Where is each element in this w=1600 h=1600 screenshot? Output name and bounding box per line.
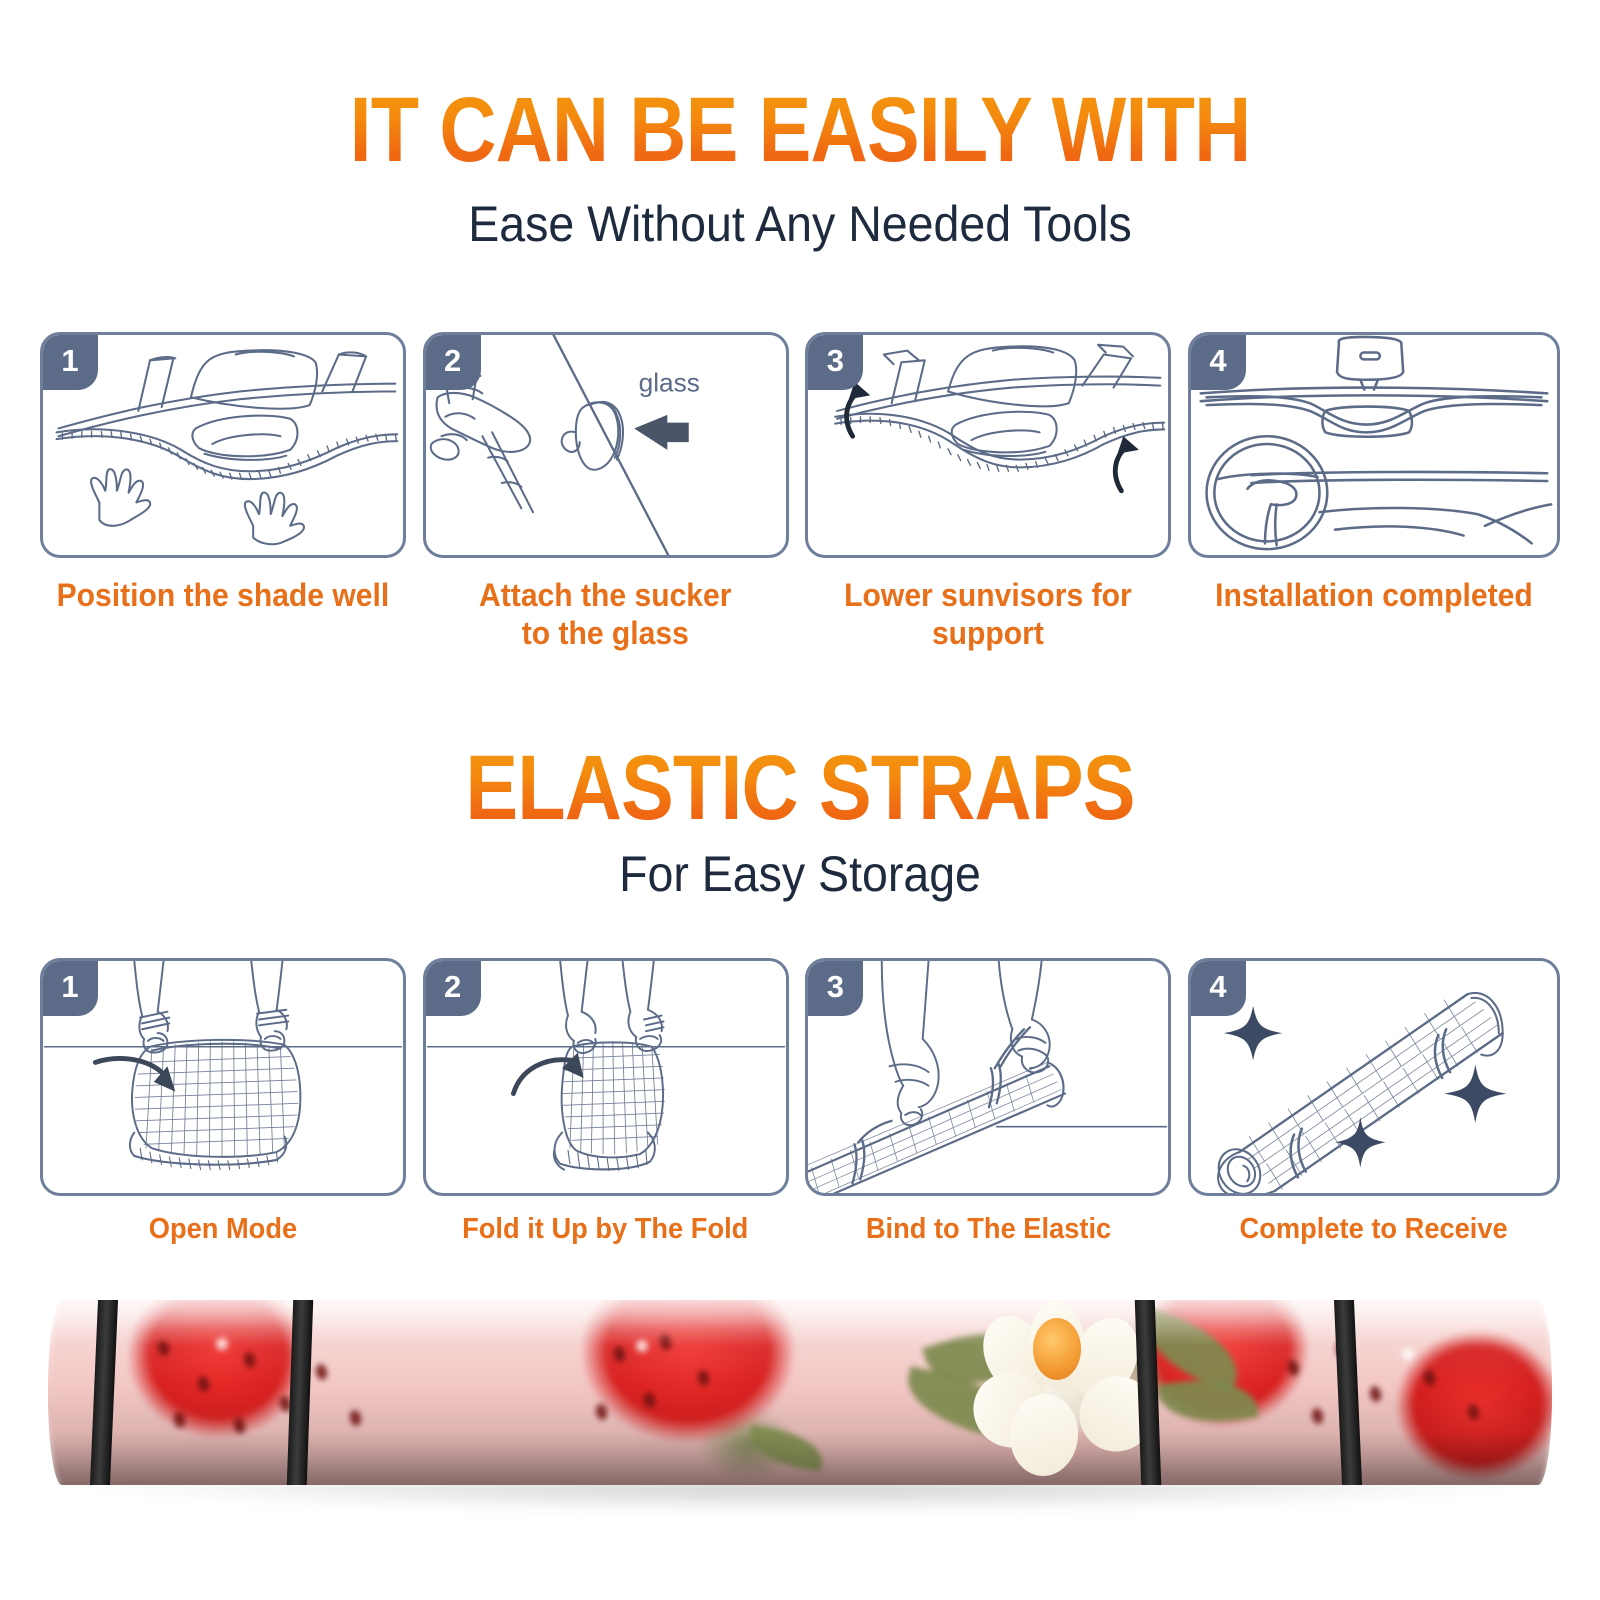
step-number-badge: 1 [42, 334, 98, 390]
step-number-badge: 3 [807, 334, 863, 390]
install-step-2-caption: Attach the sucker to the glass [479, 576, 731, 652]
storage-step-2: 2 [423, 958, 789, 1247]
install-step-3-panel: 3 [805, 332, 1171, 558]
roll-drop-shadow [74, 1482, 1526, 1512]
install-step-2: 2 [423, 332, 789, 652]
storage-step-4-panel: 4 [1188, 958, 1560, 1196]
storage-step-1-panel: 1 [40, 958, 406, 1196]
rolled-sunshade-product-photo [48, 1300, 1552, 1485]
install-step-1-caption: Position the shade well [57, 576, 390, 614]
storage-subhead: For Easy Storage [56, 846, 1544, 902]
storage-step-4-caption: Complete to Receive [1240, 1212, 1508, 1247]
install-step-4-caption: Installation completed [1215, 576, 1533, 614]
install-step-1: 1 [40, 332, 406, 652]
install-subhead: Ease Without Any Needed Tools [56, 196, 1544, 252]
install-step-4: 4 [1188, 332, 1560, 652]
install-step-2-panel: 2 [423, 332, 789, 558]
install-step-4-panel: 4 [1188, 332, 1560, 558]
storage-steps-row: 1 [40, 958, 1560, 1247]
svg-text:glass: glass [638, 367, 699, 397]
install-step-3-caption: Lower sunvisors for support [845, 576, 1132, 652]
step-number-badge: 1 [42, 960, 98, 1016]
storage-step-3-caption: Bind to The Elastic [866, 1212, 1111, 1247]
install-step-1-panel: 1 [40, 332, 406, 558]
install-step-3: 3 [805, 332, 1171, 652]
storage-step-3-panel: 3 [805, 958, 1171, 1196]
step-number-badge: 2 [425, 960, 481, 1016]
install-headline: IT CAN BE EASILY WITH [112, 82, 1488, 178]
storage-step-4: 4 [1188, 958, 1560, 1247]
storage-step-1-caption: Open Mode [149, 1212, 297, 1247]
photo-blur-overlay [48, 1300, 1552, 1485]
storage-step-3: 3 [805, 958, 1171, 1247]
storage-headline: ELASTIC STRAPS [112, 740, 1488, 836]
sunshade-roll [48, 1300, 1552, 1485]
storage-step-1: 1 [40, 958, 406, 1247]
step-number-badge: 2 [425, 334, 481, 390]
step-number-badge: 4 [1190, 334, 1246, 390]
step-number-badge: 3 [807, 960, 863, 1016]
daisy-flower-center [1033, 1318, 1081, 1380]
storage-step-2-panel: 2 [423, 958, 789, 1196]
install-steps-row: 1 [40, 332, 1560, 652]
storage-step-2-caption: Fold it Up by The Fold [463, 1212, 749, 1247]
step-number-badge: 4 [1190, 960, 1246, 1016]
